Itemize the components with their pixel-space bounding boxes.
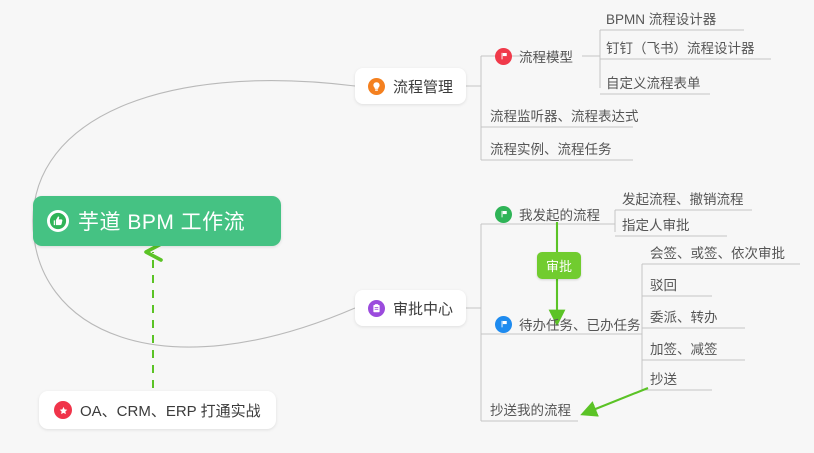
leaf-label: 会签、或签、依次审批 [650,242,785,262]
branch-label: 审批中心 [393,298,453,319]
leaf-label: 驳回 [650,274,677,294]
leaf-label: 抄送我的流程 [490,399,571,419]
leaf-label: 流程监听器、流程表达式 [490,105,639,125]
leaf-label: 抄送 [650,368,677,388]
subnode-my-initiated-process[interactable]: 我发起的流程 [495,203,600,225]
leaf-bpmn-designer[interactable]: BPMN 流程设计器 [606,8,716,30]
flag-icon [495,206,512,223]
leaf-label: 委派、转办 [650,306,718,326]
annotation-text: 审批 [546,259,572,274]
thumbs-up-icon [47,210,69,232]
leaf-dingtalk-designer[interactable]: 钉钉（飞书）流程设计器 [606,37,755,59]
annotation-label-approve: 审批 [537,252,581,279]
subnode-process-model[interactable]: 流程模型 [495,45,573,67]
leaf-process-instance[interactable]: 流程实例、流程任务 [490,138,612,160]
leaf-start-cancel-process[interactable]: 发起流程、撤销流程 [622,188,744,210]
leaf-label: 加签、减签 [650,338,718,358]
leaf-label: 流程实例、流程任务 [490,138,612,158]
leaf-countersign[interactable]: 会签、或签、依次审批 [650,242,785,264]
lightbulb-icon [368,78,385,95]
star-icon [54,401,72,419]
leaf-add-remove-sign[interactable]: 加签、减签 [650,338,718,360]
flag-icon [495,316,512,333]
branch-label: 流程管理 [393,76,453,97]
leaf-delegate-transfer[interactable]: 委派、转办 [650,306,718,328]
leaf-cc-to-me-process[interactable]: 抄送我的流程 [490,399,571,421]
leaf-label: BPMN 流程设计器 [606,8,716,28]
branch-node-process-management[interactable]: 流程管理 [355,68,466,104]
leaf-cc[interactable]: 抄送 [650,368,677,390]
leaf-reject[interactable]: 驳回 [650,274,677,296]
annotation-arrow-cc [588,388,648,412]
leaf-process-listener[interactable]: 流程监听器、流程表达式 [490,105,639,127]
clipboard-icon [368,300,385,317]
subnode-todo-done-tasks[interactable]: 待办任务、已办任务 [495,313,641,335]
subnode-label: 我发起的流程 [519,204,600,224]
leaf-label: 自定义流程表单 [606,72,701,92]
footer-node-label: OA、CRM、ERP 打通实战 [80,400,261,421]
leaf-assignee-approval[interactable]: 指定人审批 [622,214,690,236]
leaf-label: 发起流程、撤销流程 [622,188,744,208]
subnode-label: 待办任务、已办任务 [519,314,641,334]
leaf-custom-form[interactable]: 自定义流程表单 [606,72,701,94]
subnode-label: 流程模型 [519,46,573,66]
footer-node-integration[interactable]: OA、CRM、ERP 打通实战 [39,391,276,429]
root-label: 芋道 BPM 工作流 [78,206,245,236]
root-node[interactable]: 芋道 BPM 工作流 [33,196,281,246]
flag-icon [495,48,512,65]
leaf-label: 钉钉（飞书）流程设计器 [606,37,755,57]
mindmap-canvas: 芋道 BPM 工作流 流程管理 流程模型 BPMN 流程设计器 钉钉（飞书）流程… [0,0,814,453]
leaf-label: 指定人审批 [622,214,690,234]
branch-node-approval-center[interactable]: 审批中心 [355,290,466,326]
